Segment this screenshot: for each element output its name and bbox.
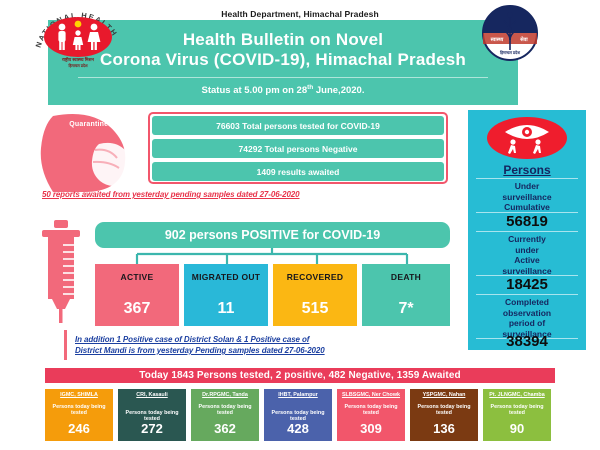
additional-cases-note-line1: In addition 1 Positive case of District … [75,335,309,344]
results-awaited-bar: 1409 results awaited [152,162,444,181]
syringe-icon [22,218,100,323]
surveillance-label-active: CurrentlyunderActivesurveillance [472,234,582,276]
lab-name: IGMC, SHIMLA [45,392,113,398]
lab-name: SLBSGMC, Ner Chowk [337,392,405,398]
lab-box-pt-jlngmc-chamba: Pt. JLNGMC, Chamba Persons today being t… [483,389,551,441]
himachal-pradesh-health-emblem: स्वास्थ्य सेवा हिमाचल प्रदेश [477,4,543,62]
lab-value: 362 [191,421,259,436]
surveillance-label-cumulative: UndersurveillanceCumulative [472,181,582,213]
lab-sublabel: Persons today being tested [45,404,113,417]
positive-total-banner: 902 persons POSITIVE for COVID-19 [95,222,450,248]
lab-box-cri-kasauli: CRI, Kasauli Persons today being tested … [118,389,186,441]
surveillance-value-active: 18425 [472,276,582,293]
lab-box-slbsgmc-ner-chowk: SLBSGMC, Ner Chowk Persons today being t… [337,389,405,441]
lab-value: 90 [483,421,551,436]
lab-name: IHBT, Palampur [264,392,332,398]
total-tested-bar: 76603 Total persons tested for COVID-19 [152,116,444,135]
lab-sublabel: Persons today being tested [337,404,405,417]
pending-reports-note: 50 reports awaited from yesterday pendin… [42,190,442,199]
lab-name: CRI, Kasauli [118,392,186,398]
category-death-value: 7* [362,300,450,318]
surveillance-divider [476,231,578,232]
category-migrated-out-value: 11 [184,300,268,318]
lab-sublabel: Persons today being tested [483,404,551,417]
svg-text:स्वास्थ्य: स्वास्थ्य [490,37,505,43]
category-recovered-value: 515 [273,300,357,318]
additional-cases-note: In addition 1 Positive case of District … [75,334,455,356]
header-divider [78,77,488,78]
surveillance-value-cumulative: 56819 [472,213,582,230]
svg-text:सेवा: सेवा [519,36,528,43]
lab-sublabel: Persons today being tested [191,404,259,417]
lab-sublabel: Persons today being tested [410,404,478,417]
category-recovered: RECOVERED 515 [273,264,357,326]
status-suffix: June,2020. [313,85,364,96]
lab-name: Dr.RPGMC, Tanda [191,392,259,398]
lab-value: 428 [264,421,332,436]
note-accent-bar [64,330,67,360]
lab-value: 246 [45,421,113,436]
category-active: ACTIVE 367 [95,264,179,326]
national-health-mission-logo: NATIONAL HEALTH MISSION राष्ट्रीय स्वास्… [28,4,128,70]
category-active-value: 367 [95,300,179,318]
lab-name: YSPGMC, Nahan [410,392,478,398]
lab-box-drrpgmc-tanda: Dr.RPGMC, Tanda Persons today being test… [191,389,259,441]
category-migrated-out: MIGRATED OUT 11 [184,264,268,326]
lab-value: 309 [337,421,405,436]
surveillance-value-completed: 38394 [472,333,582,350]
category-active-label: ACTIVE [95,272,179,282]
category-recovered-label: RECOVERED [273,272,357,282]
status-timestamp: Status at 5.00 pm on 28th June,2020. [48,84,518,96]
lab-value: 272 [118,421,186,436]
category-migrated-out-label: MIGRATED OUT [184,272,268,282]
lab-box-ihbt-palampur: IHBT, Palampur Persons today being teste… [264,389,332,441]
svg-text:हिमाचल प्रदेश: हिमाचल प्रदेश [67,63,87,68]
category-death: DEATH 7* [362,264,450,326]
quarantined-label: Quarantined [46,121,136,128]
svg-text:हिमाचल प्रदेश: हिमाचल प्रदेश [499,50,520,55]
lab-box-yspgmc-nahan: YSPGMC, Nahan Persons today being tested… [410,389,478,441]
status-prefix: Status at 5.00 pm on 28 [202,85,308,96]
lab-name: Pt. JLNGMC, Chamba [483,392,551,398]
surveillance-divider [476,294,578,295]
today-summary-banner: Today 1843 Persons tested, 2 positive, 4… [45,368,555,383]
lab-value: 136 [410,421,478,436]
total-negative-bar: 74292 Total persons Negative [152,139,444,158]
surveillance-divider [476,178,578,179]
surveillance-heading: Persons [468,163,586,177]
category-death-label: DEATH [362,272,450,282]
lab-box-igmc-shimla: IGMC, SHIMLA Persons today being tested … [45,389,113,441]
additional-cases-note-line2: District Mandi is from yesterday Pending… [75,346,325,355]
eye-surveillance-icon [480,116,574,160]
svg-text:राष्ट्रीय स्वास्थ्य मिशन: राष्ट्रीय स्वास्थ्य मिशन [61,56,95,63]
